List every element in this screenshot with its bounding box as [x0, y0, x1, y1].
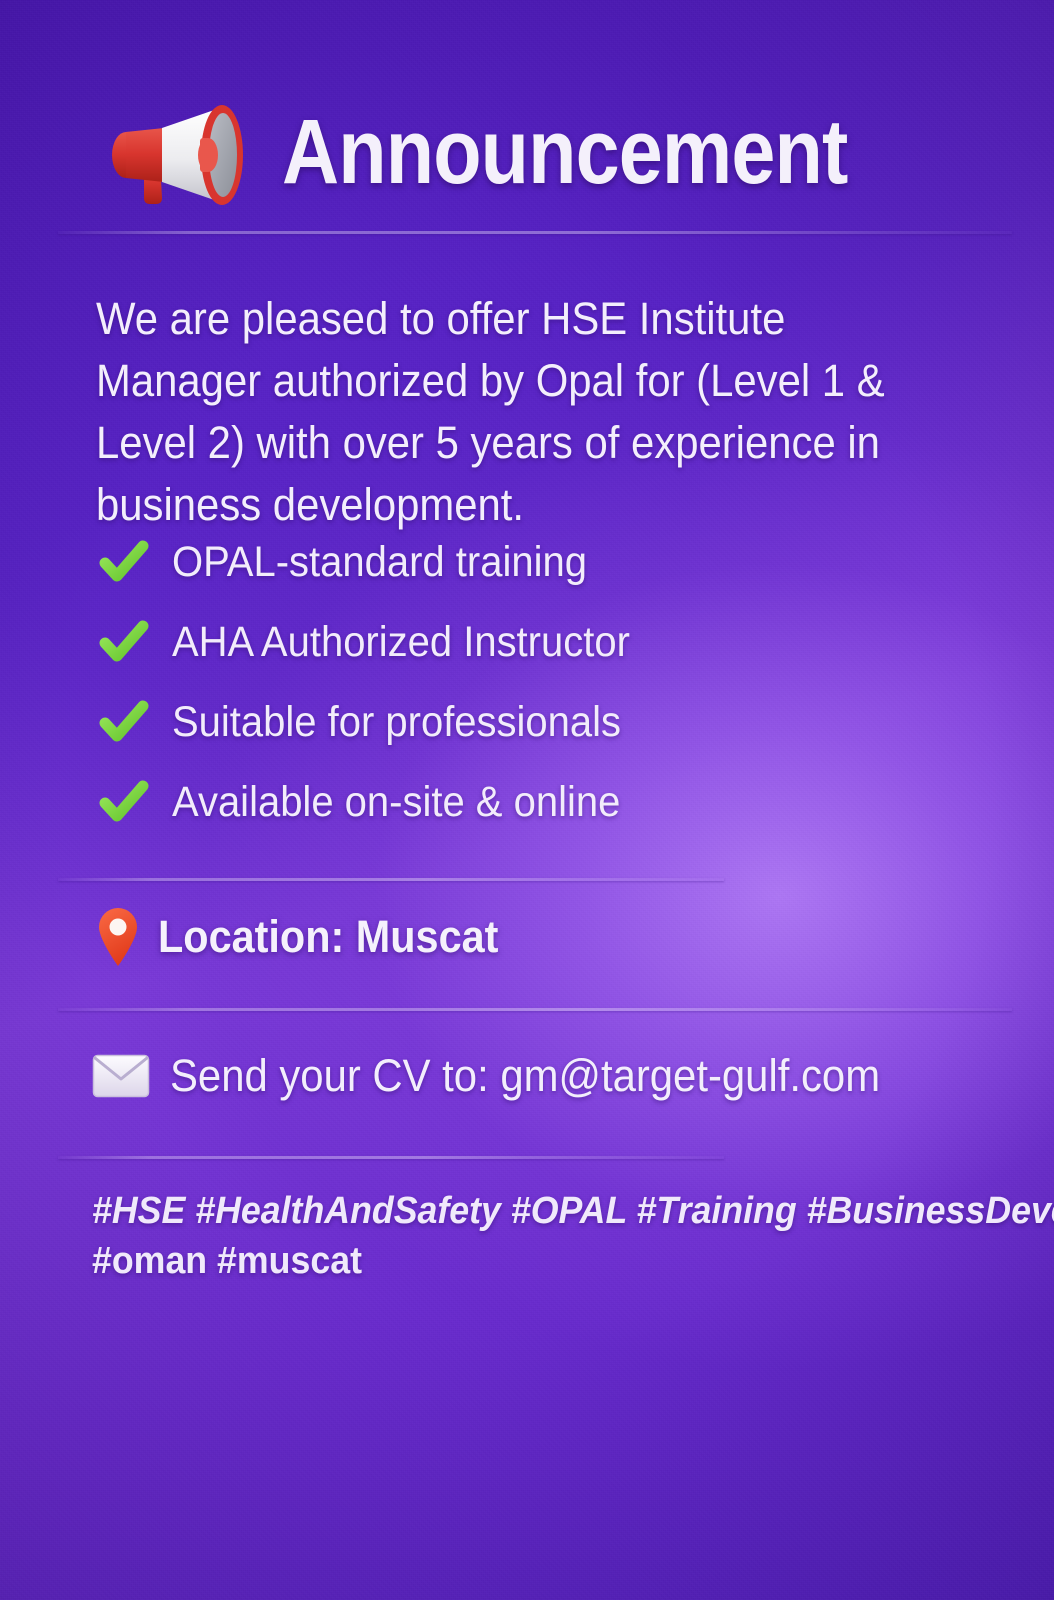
hashtag-line-primary: #HSE #HealthAndSafety #OPAL #Training #B… [92, 1186, 976, 1236]
list-item: Available on-site & online [98, 762, 978, 842]
check-icon [98, 536, 150, 588]
divider-location [58, 1008, 1012, 1011]
map-pin-icon [96, 906, 140, 968]
divider-checklist [58, 878, 724, 881]
hashtag-line-secondary: #oman #muscat [92, 1236, 976, 1286]
email-row: Send your CV to: gm@target-gulf.com [92, 1050, 934, 1102]
list-item-label: AHA Authorized Instructor [172, 621, 630, 664]
divider-header [58, 231, 1012, 234]
page-title: Announcement [282, 106, 848, 198]
location-row: Location: Muscat [96, 906, 528, 968]
list-item: Suitable for professionals [98, 682, 978, 762]
megaphone-icon [104, 98, 256, 206]
intro-paragraph: We are pleased to offer HSE Institute Ma… [96, 288, 948, 536]
announcement-poster: Announcement We are pleased to offer HSE… [0, 0, 1054, 1600]
list-item-label: Suitable for professionals [172, 701, 621, 744]
poster-header: Announcement [104, 96, 1014, 208]
check-icon [98, 616, 150, 668]
hashtag-block: #HSE #HealthAndSafety #OPAL #Training #B… [92, 1186, 1032, 1286]
benefits-checklist: OPAL-standard training AHA Authorized In… [98, 522, 978, 842]
email-label[interactable]: Send your CV to: gm@target-gulf.com [170, 1050, 880, 1102]
divider-email [58, 1156, 724, 1159]
check-icon [98, 696, 150, 748]
envelope-icon [92, 1054, 150, 1098]
poster-content: Announcement We are pleased to offer HSE… [0, 0, 1054, 1600]
location-label: Location: Muscat [158, 911, 498, 963]
check-icon [98, 776, 150, 828]
list-item-label: OPAL-standard training [172, 541, 587, 584]
list-item: AHA Authorized Instructor [98, 602, 978, 682]
list-item-label: Available on-site & online [172, 781, 620, 824]
list-item: OPAL-standard training [98, 522, 978, 602]
